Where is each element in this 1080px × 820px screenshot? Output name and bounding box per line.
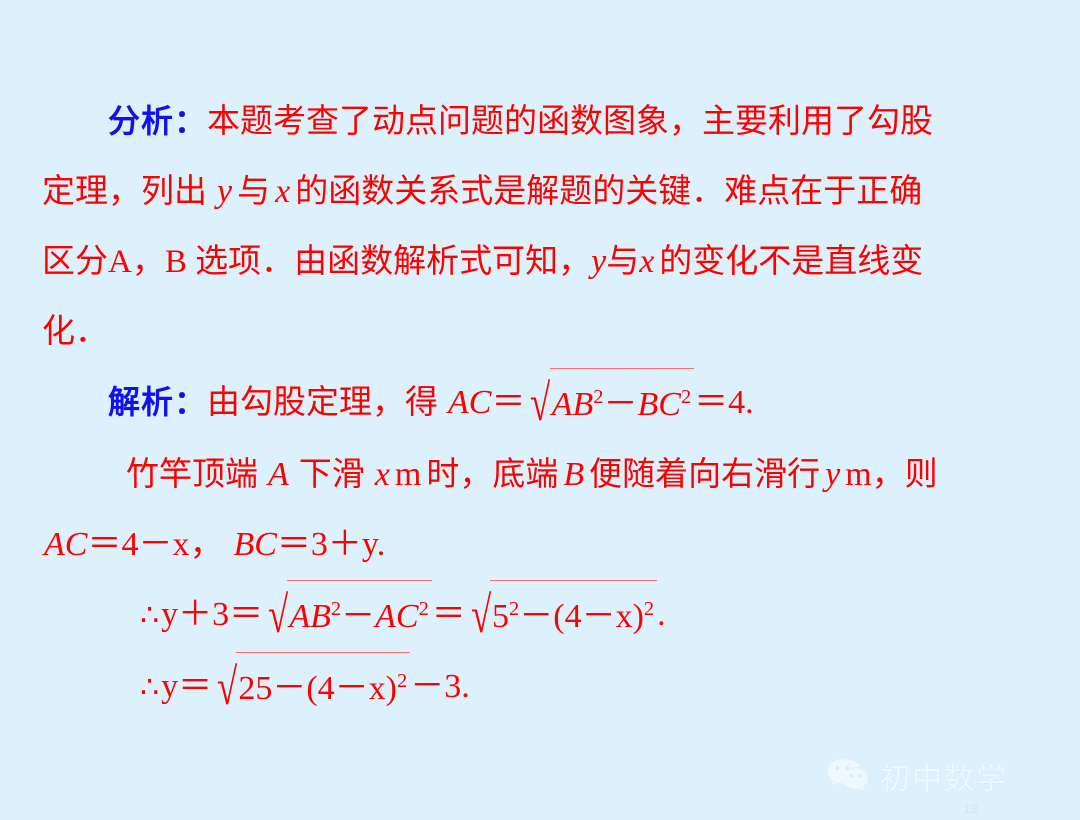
eq2-term-4mx: (4－x) [306, 670, 397, 707]
solution-line-2: 竹竿顶端A下滑xm时，底端B便随着向右滑行ym，则 [30, 440, 1050, 510]
watermark: 初中数学 [826, 754, 1008, 798]
analysis-text-3b: 与 [606, 244, 639, 280]
var-y-line2: y [825, 456, 840, 493]
solution-result-1: ＝4. [694, 384, 754, 421]
bc-value: ＝3＋y. [277, 526, 385, 563]
unit-m-2: m [845, 456, 871, 493]
analysis-line-1: 分析：本题考查了动点问题的函数图象，主要利用了勾股 [30, 86, 1050, 157]
solution-line-1: 解析：由勾股定理，得AC＝√AB2－BC2＝4. [30, 367, 1050, 440]
wechat-logo-icon [826, 757, 870, 795]
unit-m-1: m [395, 456, 421, 493]
page-number: 13 [964, 801, 978, 816]
analysis-var-x-2: x [639, 243, 654, 280]
analysis-text-3a: 区分A，B 选项．由函数解析式可知， [42, 244, 591, 280]
radical-5sq-minus-4mx-sq: √52－(4－x)2 [466, 580, 657, 652]
solution-equation-2: ∴y＝√25－(4－x)2－3. [30, 652, 1050, 724]
term-bc: BC [637, 386, 680, 423]
analysis-text-2c: 的函数关系式是解题的关键．难点在于正确 [295, 174, 922, 210]
exp-2-a: 2 [593, 386, 603, 408]
analysis-line-2: 定理，列出y与x的函数关系式是解题的关键．难点在于正确 [30, 157, 1050, 227]
eq1-minus-1: － [341, 598, 375, 635]
line2-t1: 竹竿顶端 [126, 457, 258, 493]
slide-content: 分析：本题考查了动点问题的函数图象，主要利用了勾股 定理，列出y与x的函数关系式… [0, 0, 1080, 724]
eq1-term-4mx: (4－x) [553, 598, 644, 635]
point-b: B [563, 456, 584, 493]
bc-label-2: BC [233, 526, 276, 563]
eq2-lhs: y＝ [161, 668, 212, 705]
analysis-text-3c: 的变化不是直线变 [659, 244, 923, 280]
radical-ab2-minus-ac2: √AB2－AC2 [263, 580, 432, 652]
point-a: A [268, 456, 289, 493]
eq1-exp-d: 2 [644, 598, 654, 620]
minus-1: － [603, 386, 637, 423]
slide-root: 分析：本题考查了动点问题的函数图象，主要利用了勾股 定理，列出y与x的函数关系式… [0, 0, 1080, 820]
ac-value: ＝4－x， [87, 526, 223, 563]
therefore-symbol-1: ∴ [140, 598, 161, 633]
eq1-mid-equals: ＝ [432, 596, 466, 633]
analysis-text-2a: 定理，列出 [42, 174, 207, 210]
eq1-exp-a: 2 [331, 598, 341, 620]
eq1-exp-b: 2 [419, 598, 429, 620]
line2-t2: 下滑 [299, 457, 365, 493]
radical-25-minus-4mx-sq: √25－(4－x)2 [212, 652, 410, 724]
watermark-brand-text: 初中数学 [880, 754, 1008, 798]
analysis-var-y: y [217, 173, 232, 210]
eq1-lhs: y＋3＝ [161, 596, 263, 633]
eq1-base-5: 5 [492, 598, 509, 635]
solution-text-1: 由勾股定理，得 [207, 385, 438, 421]
radical-sign-icon: √ [471, 598, 491, 634]
analysis-text-2b: 与 [237, 174, 270, 210]
eq1-minus-2: － [519, 598, 553, 635]
eq1-term-ac: AC [375, 598, 418, 635]
analysis-line-4: 化． [30, 297, 1050, 367]
radical-sign-icon: √ [217, 670, 237, 706]
radical-sign-icon: √ [531, 386, 551, 422]
exp-2-b: 2 [681, 386, 691, 408]
solution-lead-label: 解析： [108, 383, 207, 421]
solution-line-3: AC＝4－x，BC＝3＋y. [30, 510, 1050, 580]
eq2-base-25: 25－ [238, 670, 306, 707]
solution-equation-1: ∴y＋3＝√AB2－AC2＝√52－(4－x)2. [30, 580, 1050, 652]
line2-t3: 时，底端 [426, 457, 558, 493]
eq1-tail: . [657, 596, 666, 633]
line2-t4: 便随着向右滑行 [589, 457, 820, 493]
eq1-term-ab: AB [289, 598, 331, 635]
radical-ab2-minus-bc2: √AB2－BC2 [525, 368, 694, 440]
radical-sign-icon: √ [268, 598, 288, 634]
var-x-line2: x [375, 456, 390, 493]
term-ab: AB [552, 386, 594, 423]
eq2-exp: 2 [397, 670, 407, 692]
analysis-var-y-2: y [591, 243, 606, 280]
analysis-line-3: 区分A，B 选项．由函数解析式可知，y与x的变化不是直线变 [30, 227, 1050, 297]
analysis-var-x: x [275, 173, 290, 210]
analysis-text-1: 本题考查了动点问题的函数图象，主要利用了勾股 [207, 104, 933, 140]
solution-equals-1: ＝ [491, 384, 525, 421]
ac-label-2: AC [44, 526, 87, 563]
solution-ac-label: AC [448, 384, 491, 421]
analysis-lead-label: 分析： [108, 102, 207, 140]
line2-t5: ，则 [872, 457, 938, 493]
eq2-tail: －3. [410, 668, 470, 705]
eq1-exp-c: 2 [509, 598, 519, 620]
therefore-symbol-2: ∴ [140, 670, 161, 705]
analysis-text-4: 化． [42, 314, 108, 350]
